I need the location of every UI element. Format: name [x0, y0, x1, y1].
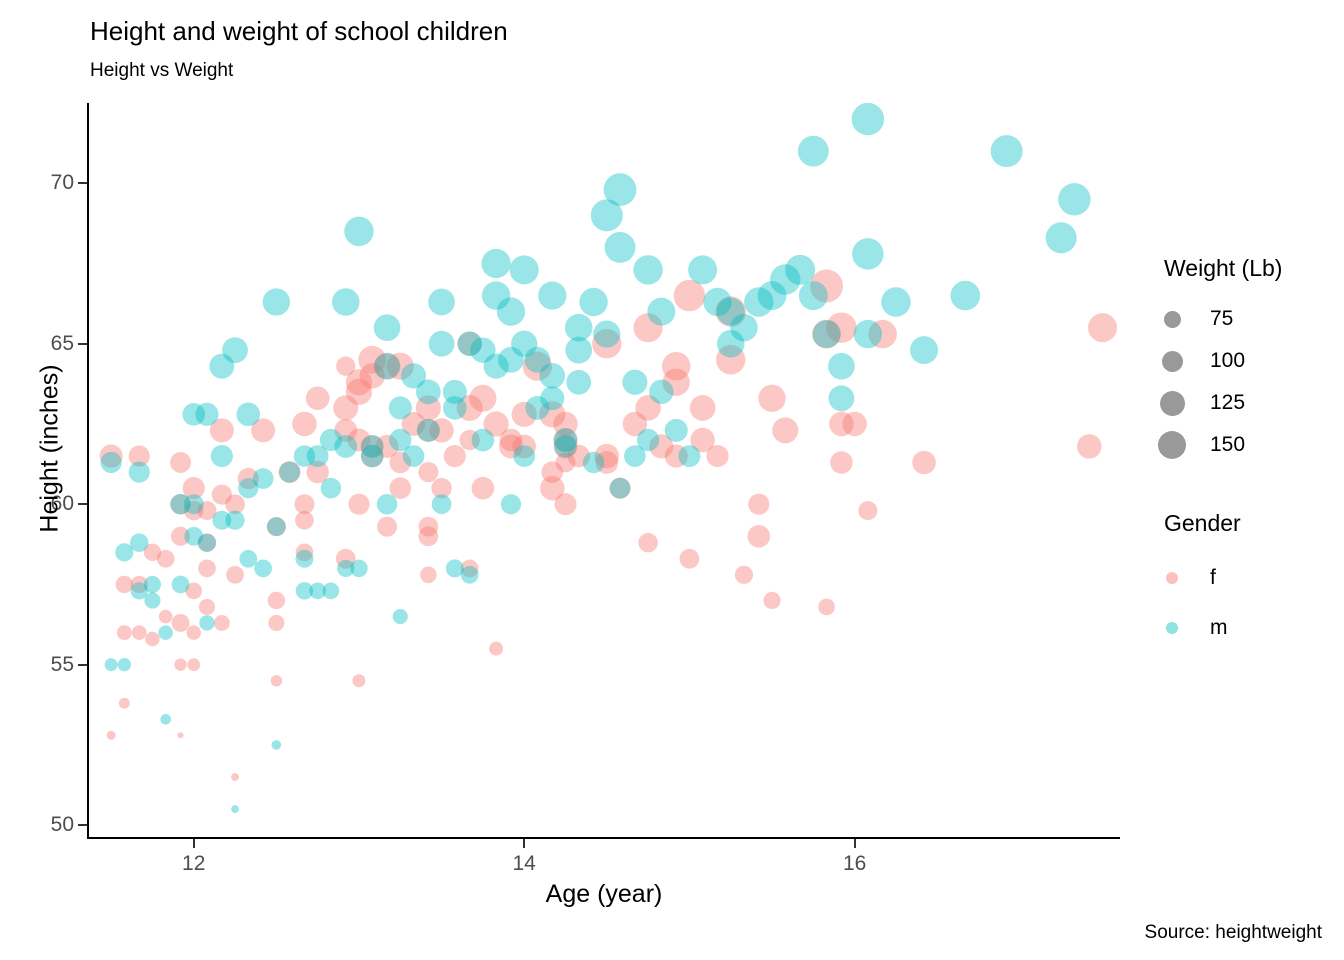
scatter-point	[482, 281, 510, 309]
circle-icon	[1160, 391, 1185, 416]
scatter-point	[118, 658, 131, 671]
scatter-point	[554, 435, 576, 457]
scatter-point	[429, 331, 455, 357]
scatter-point	[830, 451, 853, 474]
scatter-point	[469, 385, 496, 412]
scatter-point	[209, 354, 234, 379]
scatter-point	[1088, 313, 1117, 342]
size-legend-label: 125	[1210, 391, 1245, 415]
scatter-point	[747, 525, 770, 548]
scatter-point	[513, 445, 535, 467]
scatter-point	[295, 511, 314, 530]
circle-icon	[1166, 622, 1178, 634]
scatter-point	[145, 632, 159, 646]
scatter-point	[170, 452, 191, 473]
scatter-point	[829, 385, 855, 411]
scatter-point	[119, 698, 130, 709]
size-legend-label: 75	[1210, 307, 1233, 331]
x-tick-mark	[523, 839, 525, 848]
scatter-point	[489, 642, 503, 656]
y-axis-title: Height (inches)	[36, 169, 65, 729]
chart-root: Height and weight of school children Hei…	[0, 0, 1344, 960]
scatter-point	[129, 461, 150, 482]
scatter-point	[292, 412, 316, 436]
y-tick-mark	[78, 824, 87, 826]
scatter-point	[418, 462, 438, 482]
circle-icon	[1166, 572, 1178, 584]
scatter-point	[852, 238, 883, 269]
x-tick-label: 14	[513, 852, 536, 876]
scatter-point	[267, 517, 286, 536]
scatter-point	[214, 615, 230, 631]
scatter-point	[105, 658, 118, 671]
scatter-point	[539, 363, 565, 389]
scatter-point	[951, 281, 981, 311]
scatter-point	[591, 199, 623, 231]
scatter-point	[649, 380, 673, 404]
scatter-point	[706, 445, 728, 467]
scatter-point	[910, 336, 938, 364]
scatter-point	[178, 732, 184, 738]
circle-icon	[1158, 431, 1186, 459]
scatter-point	[744, 287, 773, 316]
scatter-point	[991, 135, 1023, 167]
color-legend-title: Gender	[1164, 510, 1344, 537]
scatter-point	[472, 429, 495, 452]
scatter-point	[637, 429, 659, 451]
scatter-point	[498, 347, 524, 373]
size-legend-row[interactable]: 100	[1150, 340, 1344, 382]
scatter-point	[211, 445, 233, 467]
y-tick-mark	[78, 503, 87, 505]
scatter-point	[160, 714, 171, 725]
scatter-point	[187, 625, 201, 639]
x-tick-mark	[854, 839, 856, 848]
scatter-point	[272, 740, 282, 750]
scatter-point	[239, 550, 257, 568]
scatter-point	[389, 396, 412, 419]
x-axis-title: Age (year)	[0, 880, 1208, 909]
size-legend-key	[1150, 391, 1194, 416]
scatter-point	[593, 321, 620, 348]
scatter-point	[481, 249, 510, 278]
y-tick-mark	[78, 343, 87, 345]
size-legend-row[interactable]: 150	[1150, 424, 1344, 466]
size-legend-title: Weight (Lb)	[1164, 255, 1344, 282]
x-tick-label: 12	[182, 852, 205, 876]
scatter-point	[541, 461, 563, 483]
size-legend-label: 100	[1210, 349, 1245, 373]
scatter-point	[236, 403, 260, 427]
scatter-point	[813, 320, 841, 348]
legend-area: Weight (Lb) 75100125150 Gender fm	[1150, 255, 1344, 653]
scatter-point	[772, 417, 798, 443]
scatter-point	[854, 320, 882, 348]
scatter-point	[735, 566, 753, 584]
scatter-point	[912, 451, 936, 475]
scatter-point	[622, 370, 647, 395]
scatter-point	[1077, 434, 1101, 458]
scatter-point	[565, 314, 593, 342]
plot-panel	[88, 103, 1119, 838]
scatter-point	[763, 592, 780, 609]
scatter-point	[420, 567, 437, 584]
scatter-point	[117, 625, 132, 640]
scatter-point	[393, 609, 408, 624]
scatter-point	[798, 136, 829, 167]
scatter-point	[333, 395, 358, 420]
scatter-point	[554, 493, 576, 515]
scatter-point	[184, 494, 204, 514]
scatter-point	[799, 281, 828, 310]
scatter-point	[198, 560, 216, 578]
scatter-point	[159, 610, 173, 624]
scatter-point	[690, 395, 716, 421]
y-tick-mark	[78, 664, 87, 666]
circle-icon	[1162, 351, 1183, 372]
chart-title: Height and weight of school children	[90, 16, 508, 47]
scatter-point	[182, 403, 205, 426]
scatter-point	[361, 435, 383, 457]
scatter-point	[271, 675, 283, 687]
scatter-point	[116, 576, 133, 593]
scatter-point	[647, 298, 675, 326]
scatter-point	[852, 103, 884, 135]
scatter-point	[309, 583, 326, 600]
scatter-point	[174, 658, 186, 670]
scatter-point	[688, 255, 717, 284]
scatter-point	[674, 280, 705, 311]
scatter-points-layer	[88, 103, 1119, 838]
x-tick-mark	[193, 839, 195, 848]
scatter-point	[1046, 222, 1077, 253]
scatter-point	[321, 478, 342, 499]
chart-subtitle: Height vs Weight	[90, 60, 233, 82]
size-legend-row[interactable]: 75	[1150, 298, 1344, 340]
scatter-point	[172, 614, 190, 632]
scatter-point	[583, 452, 604, 473]
scatter-point	[279, 462, 300, 483]
scatter-point	[253, 468, 274, 489]
scatter-point	[199, 599, 215, 615]
scatter-point	[263, 288, 290, 315]
y-tick-label: 50	[51, 813, 74, 837]
scatter-point	[717, 330, 745, 358]
scatter-point	[579, 288, 607, 316]
scatter-point	[344, 217, 373, 246]
scatter-point	[417, 419, 440, 442]
scatter-point	[332, 288, 360, 316]
size-legend-rows: 75100125150	[1150, 298, 1344, 466]
scatter-point	[389, 429, 411, 451]
scatter-point	[268, 615, 284, 631]
scatter-point	[680, 549, 700, 569]
scatter-point	[348, 494, 369, 515]
scatter-point	[352, 674, 365, 687]
scatter-point	[633, 255, 662, 284]
scatter-point	[307, 445, 329, 467]
size-legend-key	[1150, 311, 1194, 328]
scatter-point	[818, 599, 835, 616]
scatter-point	[374, 353, 400, 379]
scatter-point	[144, 592, 160, 608]
scatter-point	[337, 560, 354, 577]
scatter-point	[418, 517, 438, 537]
scatter-point	[231, 773, 239, 781]
scatter-point	[187, 658, 200, 671]
scatter-point	[842, 412, 866, 436]
scatter-point	[225, 511, 244, 530]
x-tick-label: 16	[843, 852, 866, 876]
scatter-point	[428, 289, 455, 316]
size-legend-key	[1150, 351, 1194, 372]
size-legend-label: 150	[1210, 433, 1245, 457]
scatter-point	[254, 560, 272, 578]
scatter-point	[858, 501, 877, 520]
scatter-point	[748, 494, 769, 515]
scatter-point	[107, 731, 116, 740]
size-legend-key	[1150, 431, 1194, 459]
scatter-point	[828, 353, 855, 380]
scatter-point	[638, 533, 658, 553]
color-legend-key	[1150, 622, 1194, 634]
color-legend-rows: fm	[1150, 553, 1344, 653]
color-legend-label: f	[1210, 566, 1216, 590]
scatter-point	[444, 445, 466, 467]
scatter-point	[432, 494, 452, 514]
color-legend-key	[1150, 572, 1194, 584]
y-tick-mark	[78, 182, 87, 184]
scatter-point	[665, 419, 688, 442]
scatter-point	[377, 494, 398, 515]
y-axis-line	[87, 103, 89, 839]
scatter-point	[295, 550, 313, 568]
scatter-point	[605, 232, 636, 263]
scatter-point	[443, 396, 467, 420]
color-legend: Gender fm	[1150, 510, 1344, 653]
scatter-point	[231, 805, 239, 813]
scatter-point	[566, 370, 591, 395]
circle-icon	[1164, 311, 1181, 328]
scatter-point	[501, 494, 521, 514]
scatter-point	[132, 625, 147, 640]
color-legend-row[interactable]: m	[1150, 603, 1344, 653]
chart-caption: Source: heightweight	[1145, 922, 1322, 944]
scatter-point	[374, 314, 401, 341]
scatter-point	[401, 363, 426, 388]
size-legend: Weight (Lb) 75100125150	[1150, 255, 1344, 466]
scatter-point	[525, 396, 549, 420]
scatter-point	[678, 445, 700, 467]
scatter-point	[610, 478, 631, 499]
scatter-point	[334, 435, 357, 458]
color-legend-label: m	[1210, 616, 1228, 640]
scatter-point	[268, 592, 285, 609]
color-legend-row[interactable]: f	[1150, 553, 1344, 603]
scatter-point	[130, 533, 149, 552]
scatter-point	[472, 477, 495, 500]
size-legend-row[interactable]: 125	[1150, 382, 1344, 424]
scatter-point	[461, 566, 479, 584]
scatter-point	[172, 576, 190, 594]
scatter-point	[226, 566, 244, 584]
x-axis-line	[87, 837, 1120, 839]
scatter-point	[770, 264, 800, 294]
scatter-point	[377, 517, 397, 537]
scatter-point	[510, 255, 539, 284]
scatter-point	[881, 287, 910, 316]
scatter-point	[199, 615, 214, 630]
scatter-point	[538, 281, 566, 309]
scatter-point	[1058, 183, 1090, 215]
scatter-point	[306, 386, 330, 410]
scatter-point	[158, 625, 172, 639]
scatter-point	[101, 452, 122, 473]
scatter-point	[758, 385, 785, 412]
scatter-point	[198, 534, 216, 552]
